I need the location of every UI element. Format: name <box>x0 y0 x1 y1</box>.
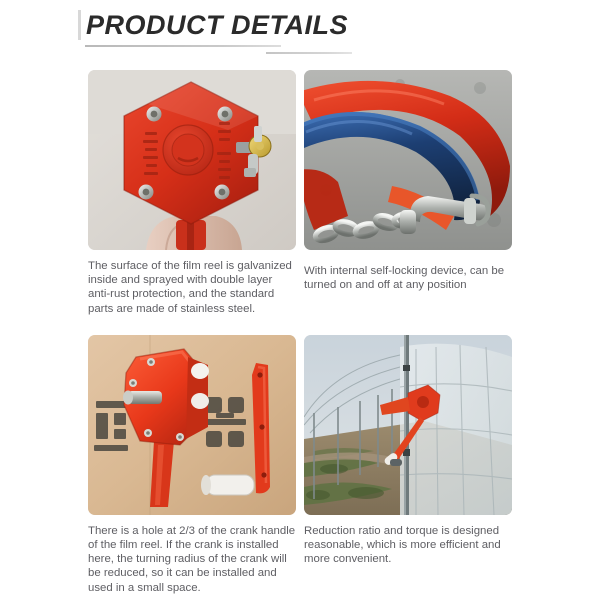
product-caption: Reduction ratio and torque is designed r… <box>304 524 512 567</box>
title-divider-line-secondary <box>266 52 352 54</box>
red-blue-reel-discs-with-chain-photo <box>304 70 512 250</box>
title-row: PRODUCT DETAILS <box>78 10 538 40</box>
product-block-crank-handle-hole: There is a hole at 2/3 of the crank hand… <box>88 335 296 595</box>
page-title: PRODUCT DETAILS <box>86 10 348 40</box>
product-caption: There is a hole at 2/3 of the crank hand… <box>88 524 296 595</box>
product-block-reduction-ratio: Reduction ratio and torque is designed r… <box>304 335 512 595</box>
product-details-page: PRODUCT DETAILS <box>0 0 600 600</box>
product-row-2: There is a hole at 2/3 of the crank hand… <box>88 335 512 595</box>
greenhouse-installation-photo <box>304 335 512 515</box>
product-block-self-locking-device: With internal self-locking device, can b… <box>304 70 512 316</box>
product-row-1: The surface of the film reel is galvaniz… <box>88 70 512 316</box>
title-divider <box>78 43 538 57</box>
product-caption: With internal self-locking device, can b… <box>304 264 512 292</box>
title-divider-line-primary <box>85 45 281 47</box>
red-hexagonal-film-reel-housing-photo <box>88 70 296 250</box>
product-detail-grid: The surface of the film reel is galvaniz… <box>88 70 512 595</box>
reel-gearbox-with-crank-arm-photo <box>88 335 296 515</box>
product-caption: The surface of the film reel is galvaniz… <box>88 259 296 316</box>
page-header: PRODUCT DETAILS <box>78 10 538 57</box>
product-block-film-reel-housing: The surface of the film reel is galvaniz… <box>88 70 296 316</box>
title-accent-bar <box>78 10 81 40</box>
